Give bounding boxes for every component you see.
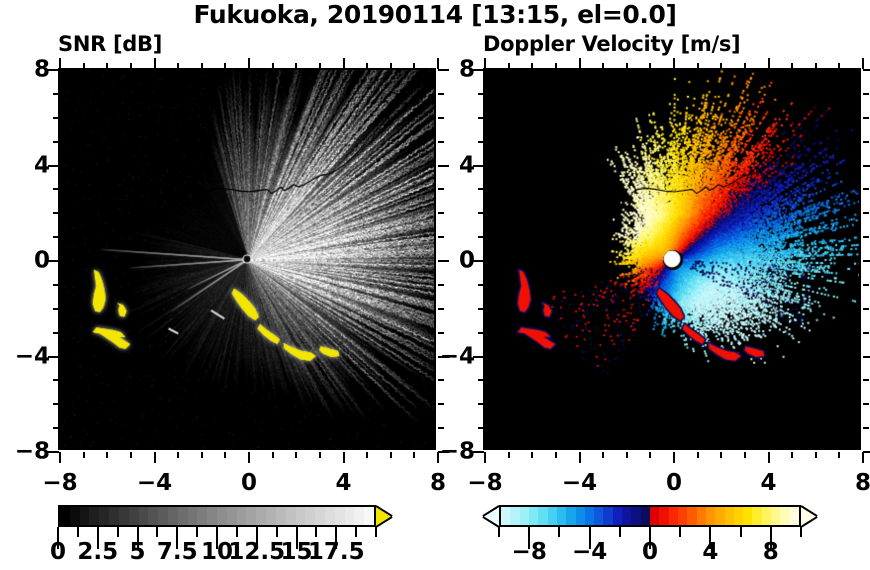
colorbar-segment [641,507,650,525]
colorbar-segment [743,507,752,525]
y-tick [478,427,484,429]
y-tick [863,403,869,405]
y-axis-label: −4 [0,345,475,368]
colorbar-label: 5 [129,541,145,564]
colorbar-tick [498,527,500,537]
colorbar-segment [752,507,761,525]
y-tick [53,403,59,405]
y-axis-label: 4 [0,154,475,177]
colorbar-segment [510,507,519,525]
colorbar-tick [619,527,621,537]
x-tick [791,452,793,458]
y-tick [863,141,869,143]
colorbar-segment [305,507,315,525]
x-tick [484,58,486,69]
y-tick [53,332,59,334]
colorbar-segment [771,507,780,525]
colorbar-segment [109,507,119,525]
colorbar-segment [99,507,109,525]
colorbar-tick [800,527,802,537]
y-tick [478,308,484,310]
y-tick [438,212,444,214]
y-tick [478,188,484,190]
y-tick [863,165,870,167]
colorbar-segment [89,507,99,525]
y-tick [478,212,484,214]
colorbar-segment [697,507,706,525]
colorbar-segment [227,507,237,525]
colorbar-tick [740,527,742,537]
x-tick [768,58,770,69]
page-title: Fukuoka, 20190114 [13:15, el=0.0] [0,0,870,30]
x-tick [768,452,770,463]
y-axis-label: 0 [0,250,475,273]
colorbar-segment [734,507,743,525]
y-tick [863,69,870,71]
colorbar-segment [725,507,734,525]
y-tick [478,117,484,119]
colorbar-segment [207,507,217,525]
colorbar-segment [790,507,799,525]
colorbar-segment [188,507,198,525]
colorbar-label: 2.5 [77,541,118,564]
y-tick [438,403,444,405]
y-tick [863,451,870,453]
x-tick [720,63,722,69]
y-tick [53,188,59,190]
y-tick [478,284,484,286]
colorbar-label: −4 [572,541,607,564]
colorbar-label: −8 [512,541,547,564]
colorbar-segment [706,507,715,525]
x-axis-label: 4 [335,472,351,495]
y-tick [478,332,484,334]
doppler-heatmap-canvas [485,70,859,448]
y-tick [478,93,484,95]
colorbar-segment [217,507,227,525]
colorbar-segment [276,507,286,525]
y-tick [438,332,444,334]
y-tick [438,188,444,190]
x-tick [508,452,510,458]
y-tick [438,93,444,95]
y-tick [438,427,444,429]
colorbar-segment [622,507,631,525]
colorbar-label: 12.5 [228,541,285,564]
colorbar-segment [687,507,696,525]
x-tick [815,452,817,458]
y-tick [478,141,484,143]
colorbar-segment [780,507,789,525]
y-tick [863,260,870,262]
y-tick [478,403,484,405]
doppler-colorbar[interactable]: −8−4048 [483,505,817,527]
colorbar-segment [678,507,687,525]
colorbar-gradient [58,505,376,527]
colorbar-segment [354,507,364,525]
colorbar-label: 17.5 [308,541,365,564]
panel-title-doppler: Doppler Velocity [m/s] [483,31,740,57]
colorbar-segment [158,507,168,525]
x-tick [697,63,699,69]
colorbar-segment [538,507,547,525]
x-axis-label: −4 [137,472,172,495]
x-tick [579,452,581,463]
y-tick [863,332,869,334]
colorbar-tick [276,527,278,537]
colorbar-segment [315,507,325,525]
colorbar-segment [246,507,256,525]
y-tick [863,427,869,429]
colorbar-segment [237,507,247,525]
colorbar-label: 7.5 [157,541,198,564]
y-tick [53,379,59,381]
x-tick [602,452,604,458]
colorbar-tick [117,527,119,537]
colorbar-label: 4 [702,541,718,564]
colorbar-segment [585,507,594,525]
x-tick [838,63,840,69]
colorbar-segment [266,507,276,525]
y-tick [863,212,869,214]
x-tick [744,63,746,69]
y-axis-label: −8 [0,441,475,464]
y-tick [863,117,869,119]
snr-colorbar[interactable]: 02.557.51012.51517.5 [58,505,392,527]
colorbar-segment [197,507,207,525]
colorbar-tick [558,527,560,537]
x-axis-label: −8 [467,472,502,495]
x-tick [649,452,651,458]
x-axis-label: 0 [666,472,682,495]
colorbar-segment [613,507,622,525]
x-tick [555,63,557,69]
colorbar-tick [156,527,158,537]
colorbar-tick [375,527,377,537]
x-tick [744,452,746,458]
x-axis-label: −4 [562,472,597,495]
colorbar-segment [715,507,724,525]
colorbar-tick [315,527,317,537]
colorbar-segment [325,507,335,525]
y-tick [438,379,444,381]
x-tick [531,452,533,458]
colorbar-segment [762,507,771,525]
y-tick [53,117,59,119]
y-tick [863,188,869,190]
y-tick [438,284,444,286]
colorbar-segment [80,507,90,525]
y-tick [478,379,484,381]
colorbar-label: 0 [642,541,658,564]
colorbar-segment [296,507,306,525]
y-tick [863,236,869,238]
colorbar-segment [659,507,668,525]
doppler-plot-panel[interactable] [483,68,861,450]
colorbar-tick [355,527,357,537]
x-tick [862,58,864,69]
x-tick [531,63,533,69]
y-tick [863,379,869,381]
colorbar-segment [557,507,566,525]
colorbar-segment [603,507,612,525]
y-tick [53,93,59,95]
y-tick [53,141,59,143]
colorbar-segment [669,507,678,525]
colorbar-segment [60,507,70,525]
y-tick [53,212,59,214]
colorbar-segment [501,507,510,525]
colorbar-tick [77,527,79,537]
x-axis-label: −8 [42,472,77,495]
y-tick [863,284,869,286]
colorbar-segment [119,507,129,525]
y-tick [863,356,870,358]
x-tick [626,63,628,69]
colorbar-segment [286,507,296,525]
y-tick [438,141,444,143]
colorbar-segment [650,507,659,525]
y-axis-label: 8 [0,59,475,82]
y-tick [438,308,444,310]
colorbar-segment [631,507,640,525]
colorbar-segment [566,507,575,525]
x-tick [862,452,864,463]
colorbar-segment [520,507,529,525]
colorbar-segment [529,507,538,525]
figure-root: Fukuoka, 20190114 [13:15, el=0.0] SNR [d… [0,0,870,570]
x-tick [720,452,722,458]
colorbar-segment [576,507,585,525]
colorbar-segment [364,507,374,525]
colorbar-segment [168,507,178,525]
y-tick [863,93,869,95]
x-tick [649,63,651,69]
x-axis-label: 0 [241,472,257,495]
colorbar-label: 0 [50,541,66,564]
x-tick [697,452,699,458]
x-tick [602,63,604,69]
x-tick [555,452,557,458]
colorbar-label: 8 [763,541,779,564]
x-axis-label: 8 [430,472,446,495]
y-tick [53,427,59,429]
colorbar-segment [594,507,603,525]
x-axis-label: 8 [855,472,870,495]
colorbar-segment [335,507,345,525]
colorbar-segment [256,507,266,525]
x-tick [484,452,486,463]
colorbar-segment [548,507,557,525]
colorbar-tick [679,527,681,537]
x-tick [838,452,840,458]
colorbar-tick [236,527,238,537]
y-tick [53,308,59,310]
colorbar-segment [148,507,158,525]
colorbar-segment [129,507,139,525]
y-tick [478,236,484,238]
y-tick [438,117,444,119]
x-tick [673,452,675,463]
y-tick [863,308,869,310]
panel-title-snr: SNR [dB] [58,31,162,57]
colorbar-tick [196,527,198,537]
x-tick [791,63,793,69]
x-tick [579,58,581,69]
colorbar-segment [139,507,149,525]
y-tick [438,236,444,238]
x-tick [508,63,510,69]
x-tick [815,63,817,69]
colorbar-segment [178,507,188,525]
x-axis-label: 4 [760,472,776,495]
y-tick [53,284,59,286]
x-tick [673,58,675,69]
colorbar-segment [345,507,355,525]
colorbar-segment [70,507,80,525]
colorbar-gradient [499,505,801,527]
x-tick [626,452,628,458]
y-tick [53,236,59,238]
